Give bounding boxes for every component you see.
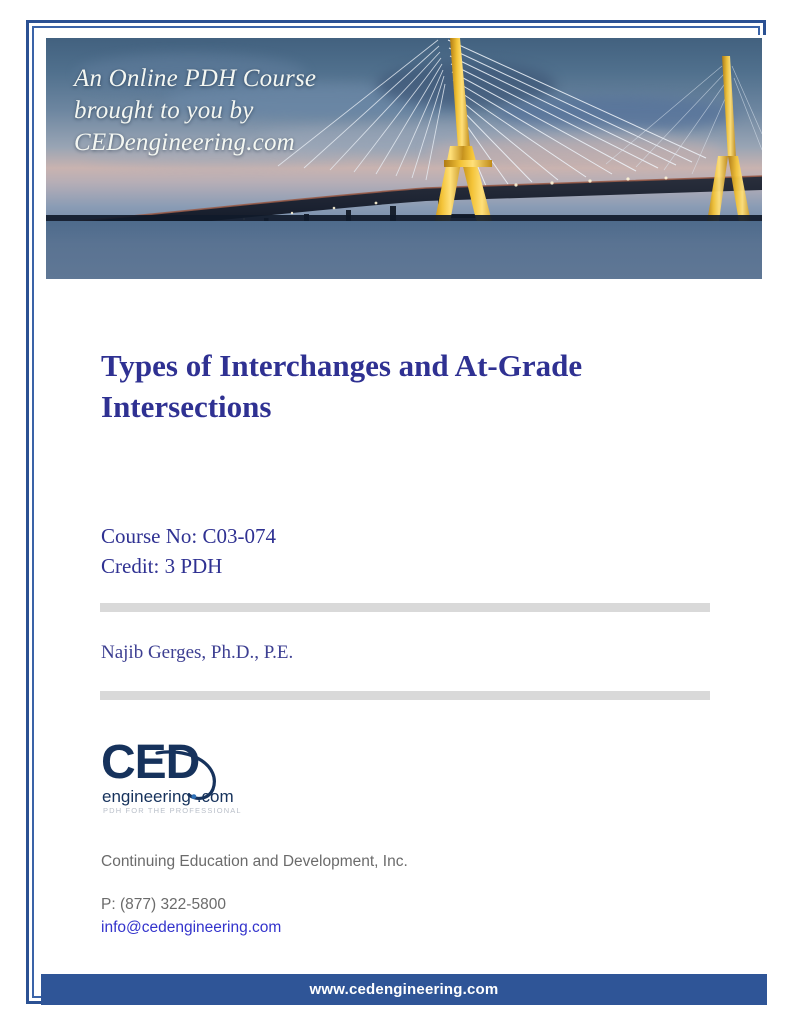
logo-wordmark: CED	[101, 739, 199, 787]
logo-sub-left: engineering	[102, 787, 191, 806]
water	[46, 221, 762, 279]
footer-bar: www.cedengineering.com	[41, 974, 767, 1005]
author-name: Najib Gerges, Ph.D., P.E.	[101, 642, 293, 664]
footer-website[interactable]: www.cedengineering.com	[41, 974, 767, 1005]
divider-top	[100, 603, 710, 612]
organization-name: Continuing Education and Development, In…	[101, 853, 408, 871]
page-border-inner: An Online PDH Course brought to you by C…	[32, 26, 760, 998]
logo-sub-right: .com	[197, 787, 234, 806]
email-link[interactable]: info@cedengineering.com	[101, 919, 281, 937]
logo-tagline: PDH FOR THE PROFESSIONAL	[103, 806, 242, 815]
page-border-outer: An Online PDH Course brought to you by C…	[26, 20, 766, 1004]
logo-subtext: engineering•.com	[102, 788, 234, 805]
page-title: Types of Interchanges and At-Grade Inter…	[101, 345, 701, 427]
phone-number: P: (877) 322-5800	[101, 896, 226, 914]
banner-overlay-text: An Online PDH Course brought to you by C…	[74, 63, 316, 158]
course-credit: Credit: 3 PDH	[101, 552, 276, 582]
header-banner-image: An Online PDH Course brought to you by C…	[46, 38, 762, 279]
course-number: Course No: C03-074	[101, 522, 276, 552]
divider-bottom	[100, 691, 710, 700]
course-info: Course No: C03-074 Credit: 3 PDH	[101, 522, 276, 582]
ced-logo: CED engineering•.com PDH FOR THE PROFESS…	[101, 743, 261, 815]
page-content: An Online PDH Course brought to you by C…	[41, 35, 767, 1005]
